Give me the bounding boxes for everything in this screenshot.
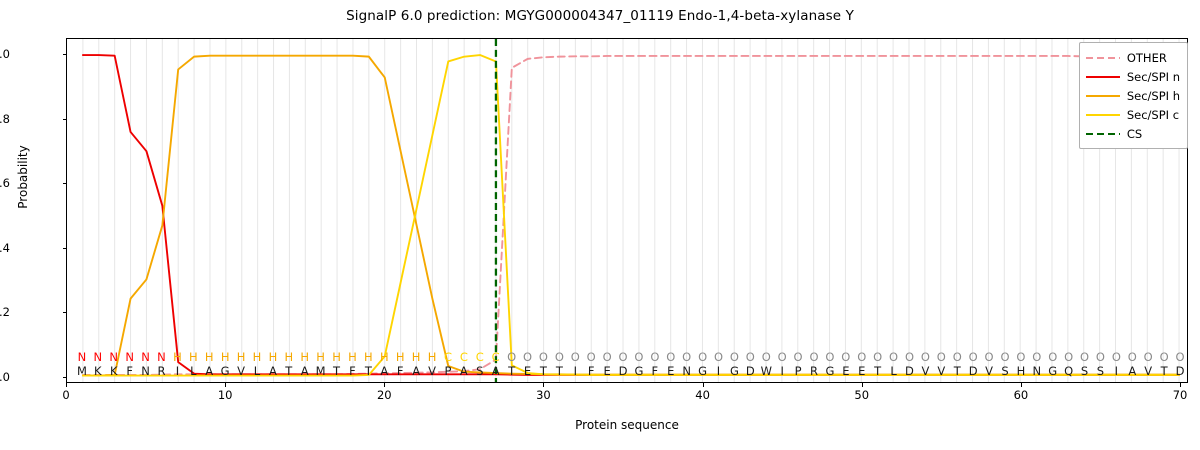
plot-area bbox=[66, 38, 1188, 383]
legend[interactable]: OTHERSec/SPI nSec/SPI hSec/SPI cCS bbox=[1079, 42, 1188, 149]
y-tick-label: 0.6 bbox=[0, 176, 10, 190]
x-tick-mark bbox=[225, 383, 226, 387]
x-axis-label: Protein sequence bbox=[66, 418, 1188, 432]
cleavage-site-line bbox=[67, 39, 1187, 382]
x-tick-label: 0 bbox=[46, 388, 86, 402]
y-tick-label: 0.2 bbox=[0, 305, 10, 319]
legend-item[interactable]: Sec/SPI h bbox=[1086, 86, 1180, 105]
legend-color-swatch bbox=[1086, 52, 1120, 64]
legend-color-swatch bbox=[1086, 71, 1120, 83]
y-tick-label: 0.0 bbox=[0, 370, 10, 384]
legend-item[interactable]: Sec/SPI n bbox=[1086, 67, 1180, 86]
x-tick-label: 70 bbox=[1160, 388, 1200, 402]
x-tick-label: 30 bbox=[523, 388, 563, 402]
legend-item-label: CS bbox=[1127, 127, 1142, 141]
residue-state-row: NNNNNNHHHHHHHHHHHHHHHHHCCCCOOOOOOOOOOOOO… bbox=[66, 350, 1188, 365]
signalp-prediction-figure: SignalP 6.0 prediction: MGYG000004347_01… bbox=[0, 0, 1200, 450]
x-tick-label: 40 bbox=[683, 388, 723, 402]
legend-item[interactable]: CS bbox=[1086, 124, 1180, 143]
y-tick-label: 0.8 bbox=[0, 112, 10, 126]
legend-item[interactable]: OTHER bbox=[1086, 48, 1180, 67]
legend-color-swatch bbox=[1086, 90, 1120, 102]
legend-item-label: OTHER bbox=[1127, 51, 1167, 65]
x-tick-mark bbox=[703, 383, 704, 387]
legend-item-label: Sec/SPI c bbox=[1127, 108, 1179, 122]
x-tick-label: 60 bbox=[1001, 388, 1041, 402]
legend-color-swatch bbox=[1086, 109, 1120, 121]
legend-item-label: Sec/SPI n bbox=[1127, 70, 1180, 84]
x-tick-mark bbox=[1180, 383, 1181, 387]
x-tick-mark bbox=[1021, 383, 1022, 387]
x-tick-mark bbox=[543, 383, 544, 387]
legend-item-label: Sec/SPI h bbox=[1127, 89, 1180, 103]
x-tick-mark bbox=[66, 383, 67, 387]
residue-letter: D bbox=[1171, 364, 1189, 379]
legend-color-swatch bbox=[1086, 128, 1120, 140]
x-tick-mark bbox=[862, 383, 863, 387]
y-axis-label: Probability bbox=[16, 57, 30, 297]
legend-item[interactable]: Sec/SPI c bbox=[1086, 105, 1180, 124]
page-title: SignalP 6.0 prediction: MGYG000004347_01… bbox=[0, 8, 1200, 24]
y-tick-label: 1.0 bbox=[0, 47, 10, 61]
residue-sequence-row: MKKFNRILAGVLATAMTFTAFAVPASATETTIFEDGFENG… bbox=[66, 364, 1188, 379]
x-tick-label: 20 bbox=[364, 388, 404, 402]
x-tick-label: 10 bbox=[205, 388, 245, 402]
x-tick-mark bbox=[384, 383, 385, 387]
y-tick-label: 0.4 bbox=[0, 241, 10, 255]
residue-state: O bbox=[1171, 350, 1189, 365]
x-tick-label: 50 bbox=[842, 388, 882, 402]
